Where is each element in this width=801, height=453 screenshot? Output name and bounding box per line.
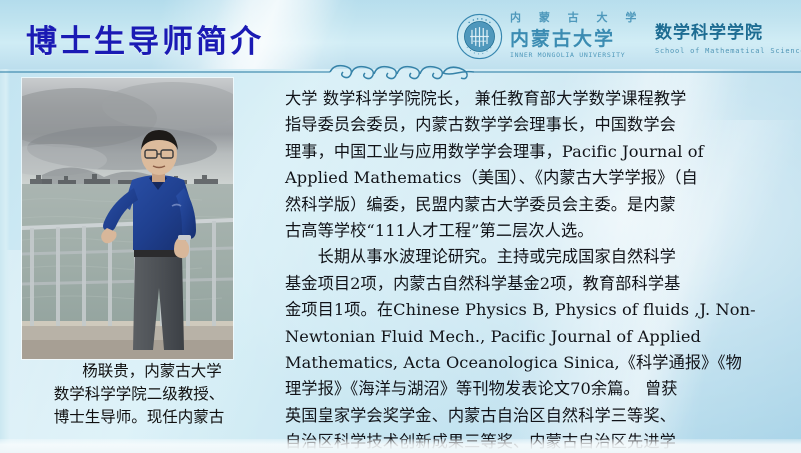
biography-body-text: 大学 数学科学学院院长， 兼任教育部大学数学课程教学 指导委员会委员，内蒙古数学… [285,86,790,453]
university-name-cn: 内 蒙 古 大 学 内蒙古大学 [510,8,640,49]
slide-header: 博士生导师简介 内 蒙 古 大 学 [0,0,801,69]
body-line: 基金项目2项，内蒙古自然科学基金2项，教育部科学基 [285,271,790,297]
university-wordmark: 内 蒙 古 大 学 内蒙古大学 INNER MONGOLIA UNIVERSIT… [510,8,640,64]
presentation-slide: 博士生导师简介 内 蒙 古 大 学 [0,0,801,453]
body-line: 大学 数学科学学院院长， 兼任教育部大学数学课程教学 [285,86,790,112]
body-line: 英国皇家学会奖学金、内蒙古自治区自然科学三等奖、 [285,403,790,429]
university-name-cn-main: 内蒙古大学 [510,29,640,49]
school-name-en: School of Mathematical Sciences [655,47,801,55]
left-edge-gradient [0,69,10,453]
school-wordmark: 数学科学学院 School of Mathematical Sciences [655,18,801,55]
page-title: 博士生导师简介 [26,16,264,61]
body-line: Applied Mathematics（美国）、《内蒙古大学学报》（自 [285,165,790,191]
photo-caption: 杨联贵，内蒙古大学 数学科学学院二级教授、 博士生导师。现任内蒙古 [14,360,264,429]
body-line: 古高等学校“111人才工程”第二层次人选。 [285,218,790,244]
caption-line: 杨联贵，内蒙古大学 [14,360,264,383]
body-line: Mathematics, Acta Oceanologica Sinica,《科… [285,350,790,376]
body-line: 长期从事水波理论研究。主持或完成国家自然科学 [285,244,790,270]
caption-line: 博士生导师。现任内蒙古 [14,406,264,429]
body-line: 理学报》《海洋与湖沼》等刊物发表论文70余篇。 曾获 [285,376,790,402]
body-line: 然科学版）编委，民盟内蒙古大学委员会主委。是内蒙 [285,192,790,218]
caption-line: 数学科学学院二级教授、 [14,383,264,406]
university-name-cn-top: 内 蒙 古 大 学 [510,8,640,28]
body-line: 金项目1项。在Chinese Physics B, Physics of flu… [285,297,790,323]
professor-portrait-photo [22,78,233,359]
school-name-cn: 数学科学学院 [655,18,801,43]
body-line: 指导委员会委员，内蒙古数学学会理事长，中国数学会 [285,112,790,138]
inner-mongolia-university-seal-icon [456,13,503,60]
body-line: Newtonian Fluid Mech., Pacific Journal o… [285,324,790,350]
university-name-en: INNER MONGOLIA UNIVERSITY [510,51,640,59]
body-line: 理事，中国工业与应用数学学会理事，Pacific Journal of [285,139,790,165]
bottom-band [0,439,801,453]
